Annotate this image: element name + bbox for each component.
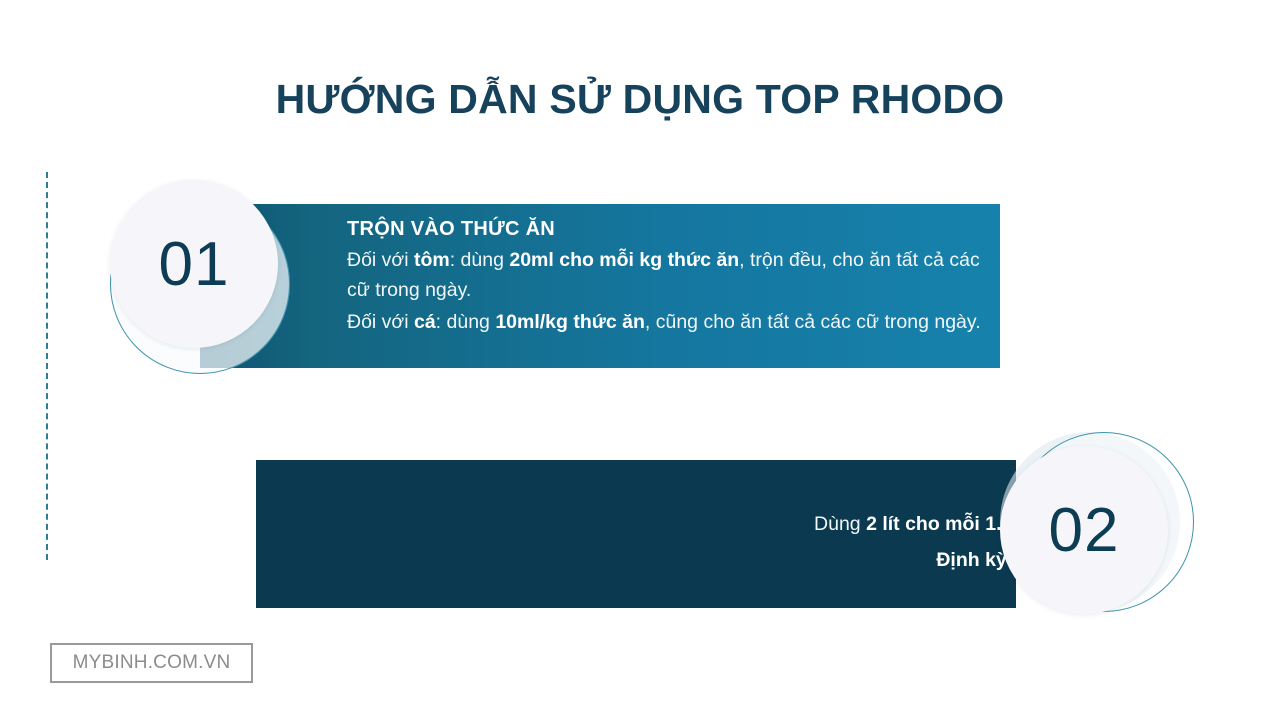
step-paragraph-01-2: Đối với cá: dùng 10ml/kg thức ăn, cũng c… [347, 307, 992, 337]
step-circle-01[interactable]: 01 [110, 180, 290, 360]
step-content-01: TRỘN VÀO THỨC ĂN Đối với tôm: dùng 20ml … [347, 215, 992, 337]
step-paragraph-01-1: Đối với tôm: dùng 20ml cho mỗi kg thức ă… [347, 245, 992, 305]
footer-website-badge[interactable]: MYBINH.COM.VN [50, 643, 253, 683]
step-heading-01: TRỘN VÀO THỨC ĂN [347, 215, 992, 243]
step-number-01: 01 [110, 180, 278, 348]
footer-website-label: MYBINH.COM.VN [73, 652, 231, 674]
slide-canvas: HƯỚNG DẪN SỬ DỤNG TOP RHODO TRỘN VÀO THỨ… [0, 0, 1280, 720]
step-circle-02[interactable]: 02 [1000, 432, 1180, 612]
decorative-dashed-rule [46, 172, 48, 560]
page-title: HƯỚNG DẪN SỬ DỤNG TOP RHODO [0, 76, 1280, 123]
step-number-02: 02 [1000, 446, 1168, 614]
